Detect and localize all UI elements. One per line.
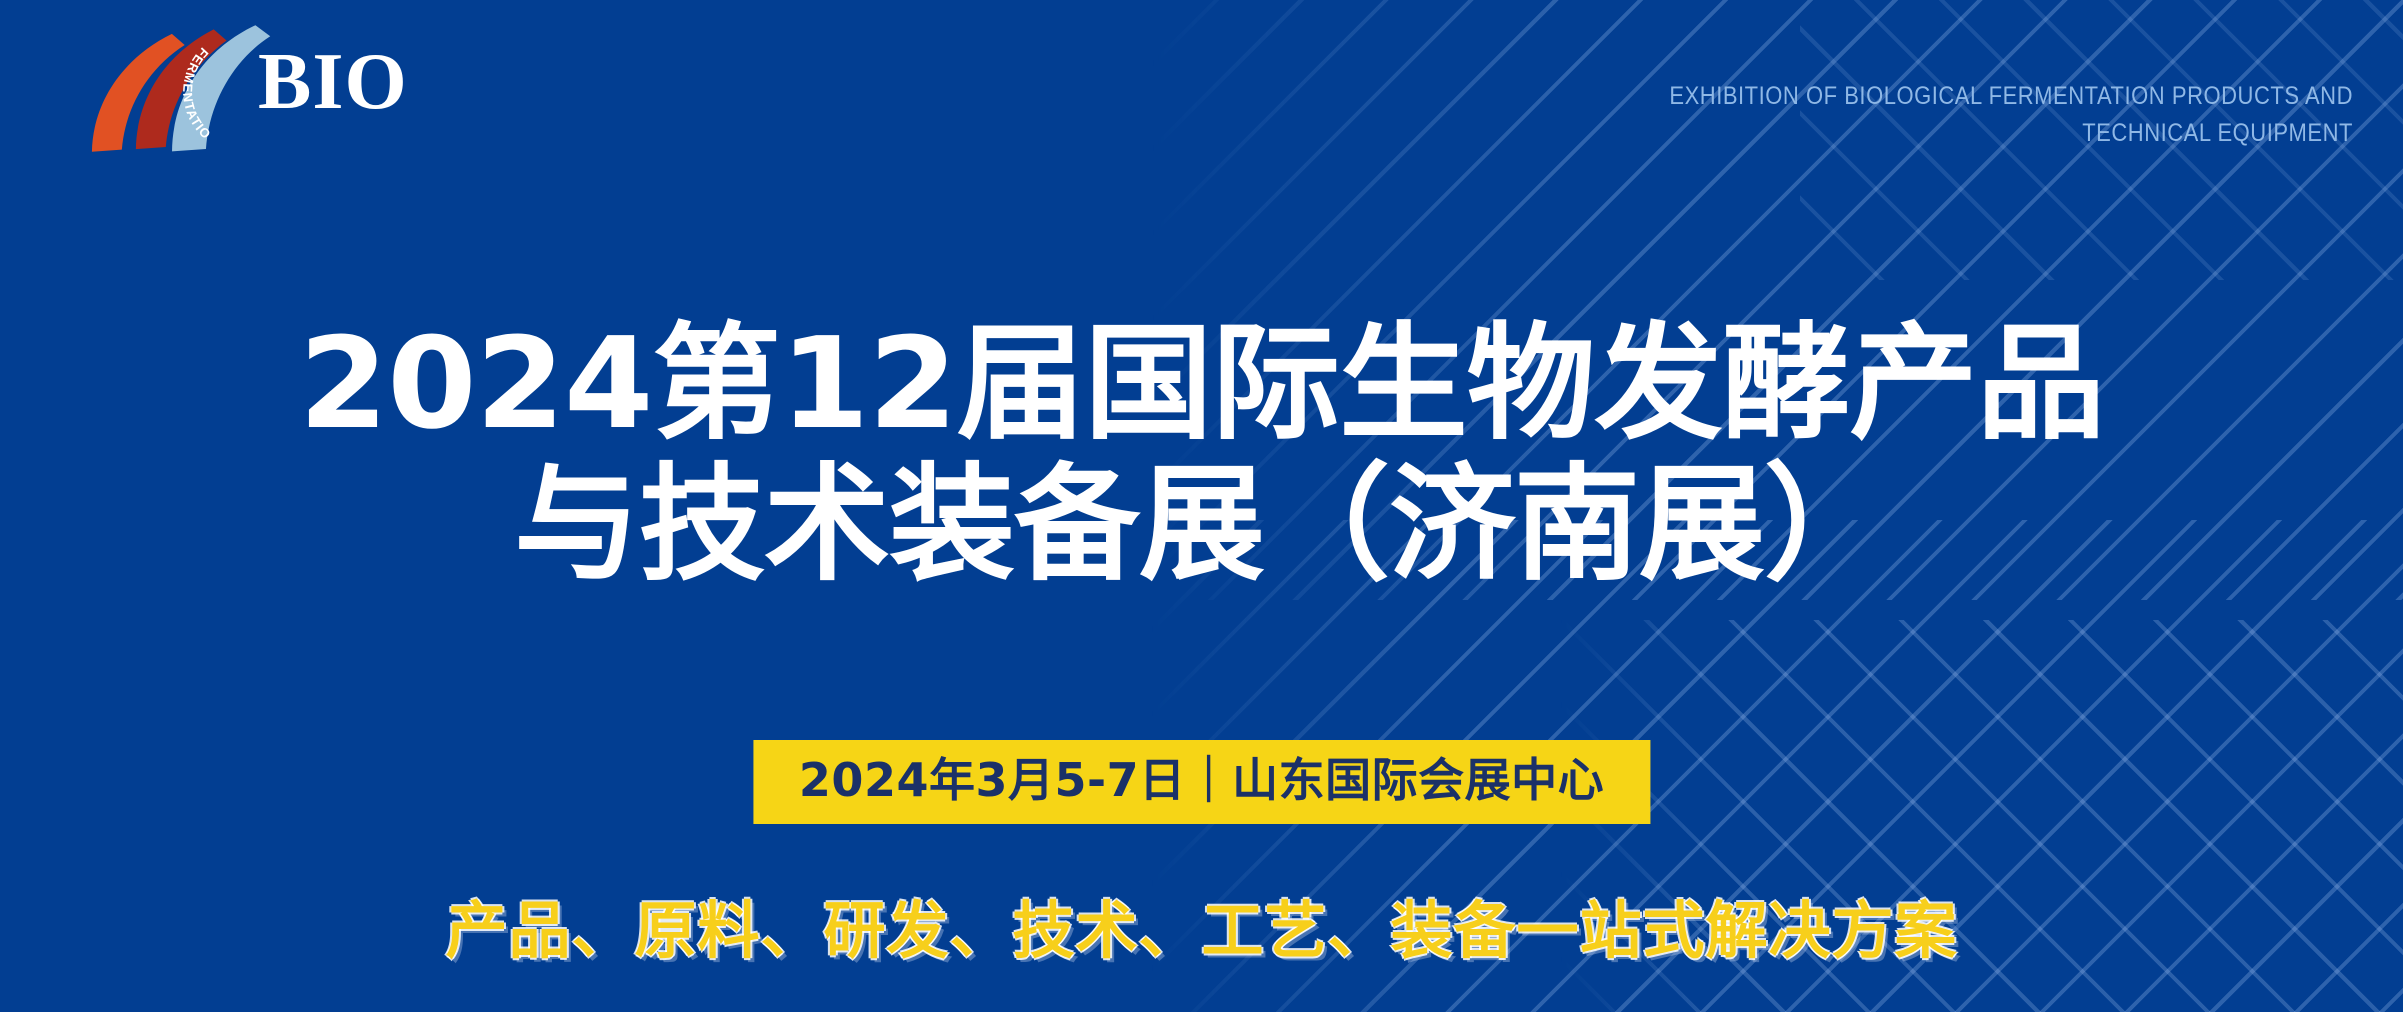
tagline: 产品、原料、研发、技术、工艺、装备一站式解决方案 <box>0 880 2403 970</box>
logo-wordmark: BIO <box>258 38 408 126</box>
logo-swoosh-icon: FERMENTATION BIO <box>88 22 428 152</box>
headline-line-1: 2024第12届国际生物发酵产品 <box>0 318 2403 449</box>
english-subtitle: EXHIBITION OF BIOLOGICAL FERMENTATION PR… <box>1631 78 2353 151</box>
headline-line-2: 与技术装备展（济南展） <box>0 459 2403 590</box>
page-title: 2024第12届国际生物发酵产品 与技术装备展（济南展） <box>0 318 2403 590</box>
date-venue-badge: 2024年3月5-7日｜山东国际会展中心 <box>753 740 1650 824</box>
bio-fermentation-logo: FERMENTATION BIO <box>88 22 428 152</box>
exhibition-banner: FERMENTATION BIO EXHIBITION OF BIOLOGICA… <box>0 0 2403 1012</box>
